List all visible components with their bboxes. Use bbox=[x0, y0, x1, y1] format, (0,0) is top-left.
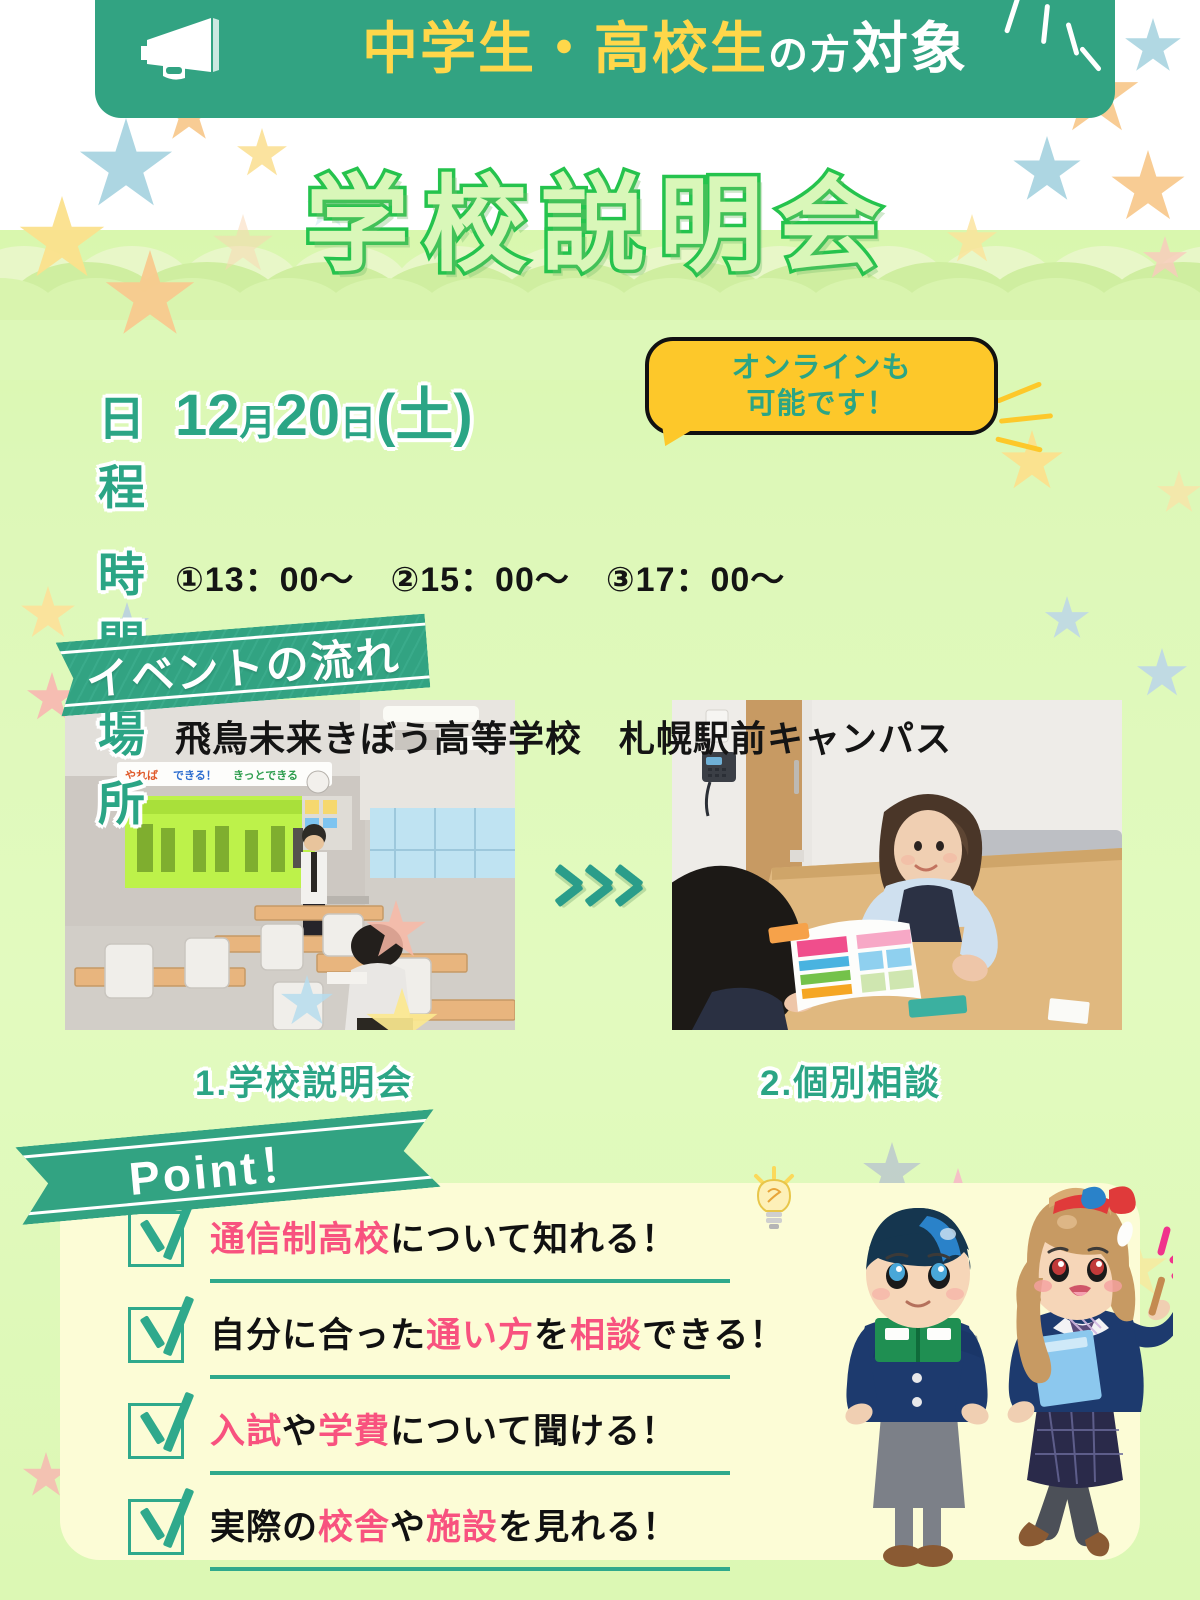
info-row-place: 場所 飛鳥未来きぼう高等学校 札幌駅前キャンパス bbox=[0, 696, 1200, 834]
time-slot-1: ①13：00〜 bbox=[175, 561, 354, 599]
header-target-mid: の方 bbox=[768, 33, 852, 77]
photo-caption-2: 2.個別相談 bbox=[760, 1055, 941, 1106]
point-check-text: 自分に合った通い方を相談できる！ bbox=[210, 1307, 785, 1358]
lightbulb-icon bbox=[740, 1162, 810, 1237]
point-underline bbox=[210, 1471, 730, 1475]
female-student-character bbox=[973, 1168, 1173, 1583]
point-checklist: 通信制高校について知れる！自分に合った通い方を相談できる！入試や学費について聞け… bbox=[128, 1205, 768, 1589]
bubble-line-2: 可能です！ bbox=[746, 386, 896, 422]
date-weekday: (土) bbox=[376, 383, 473, 448]
point-check-row: 自分に合った通い方を相談できる！ bbox=[128, 1301, 768, 1387]
header-band: 中学生・高校生の方対象 bbox=[95, 0, 1115, 118]
checkmark-icon bbox=[134, 1293, 204, 1363]
page-title: 学校説明会 bbox=[0, 140, 1200, 291]
time-slot-3: ③17：00〜 bbox=[606, 561, 785, 599]
point-underline bbox=[210, 1375, 730, 1379]
info-value-date: 12月20日(土) bbox=[175, 368, 473, 452]
checkmark-icon bbox=[134, 1485, 204, 1555]
point-underline bbox=[210, 1279, 730, 1283]
point-check-row: 通信制高校について知れる！ bbox=[128, 1205, 768, 1291]
student-characters bbox=[755, 1150, 1155, 1570]
point-check-row: 入試や学費について聞ける！ bbox=[128, 1397, 768, 1483]
bubble-line-1: オンラインも bbox=[731, 350, 911, 386]
point-check-text: 入試や学費について聞ける！ bbox=[210, 1403, 677, 1454]
info-value-time: ①13：00〜②15：00〜③17：00〜 bbox=[175, 552, 821, 601]
header-target-pre: 中学生・高校生 bbox=[362, 17, 768, 80]
chevron-right-triple-icon bbox=[556, 862, 642, 906]
point-underline bbox=[210, 1567, 730, 1571]
photo-caption-1: 1.学校説明会 bbox=[195, 1055, 413, 1106]
point-ribbon-label: Point！ bbox=[126, 1125, 330, 1209]
point-check-text: 実際の校舎や施設を見れる！ bbox=[210, 1499, 678, 1550]
header-target-post: 対象 bbox=[852, 17, 968, 80]
event-info-block: 日程 12月20日(土) 時間 ①13：00〜②15：00〜③17：00〜 場所… bbox=[0, 368, 1200, 850]
checkmark-icon bbox=[134, 1389, 204, 1459]
date-month-num: 12 bbox=[175, 383, 240, 448]
date-day-unit: 日 bbox=[340, 402, 376, 443]
poster-canvas: 中学生・高校生の方対象 学校説明会 日程 12月20日(土) 時間 ①13：00… bbox=[0, 0, 1200, 1600]
info-value-place: 飛鳥未来きぼう高等学校 札幌駅前キャンパス bbox=[175, 710, 952, 762]
date-month-unit: 月 bbox=[240, 402, 276, 443]
point-check-text: 通信制高校について知れる！ bbox=[210, 1211, 677, 1262]
point-check-row: 実際の校舎や施設を見れる！ bbox=[128, 1493, 768, 1579]
header-target-text: 中学生・高校生の方対象 bbox=[242, 4, 968, 85]
date-day-num: 20 bbox=[276, 383, 341, 448]
time-slot-2: ②15：00〜 bbox=[390, 561, 569, 599]
info-label-place: 場所 bbox=[0, 696, 175, 834]
info-label-date: 日程 bbox=[0, 380, 175, 518]
